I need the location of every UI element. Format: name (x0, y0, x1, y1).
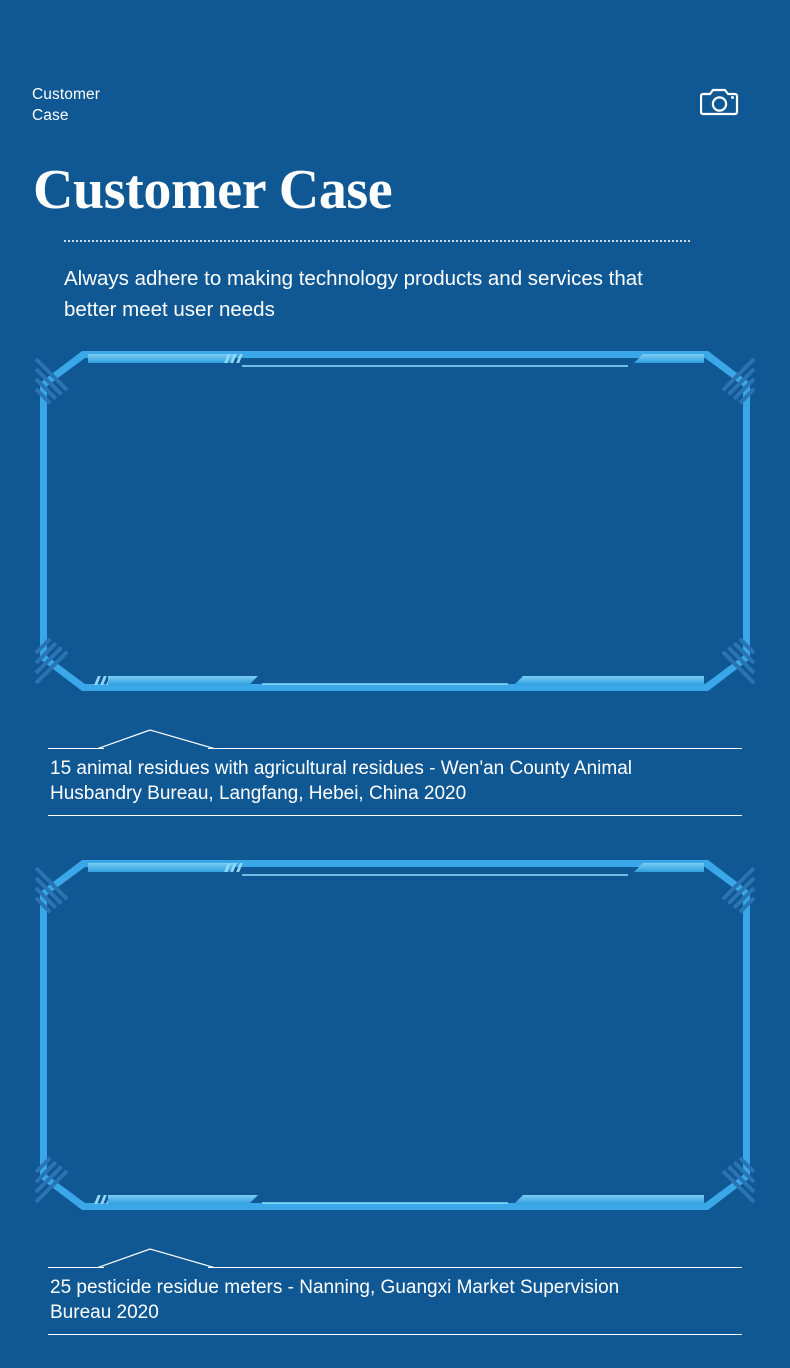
case-photo-1: 文安县农业农村局农产品质量安全培训会 (48, 353, 742, 685)
eyebrow-label: Customer Case (32, 84, 172, 126)
caption-top-rule-1 (48, 729, 742, 749)
page-title: Customer Case (33, 160, 740, 220)
case-photo-2 (48, 862, 742, 1204)
caption-line-1: 15 animal residues with agricultural res… (50, 756, 742, 781)
caption-peak-icon (98, 729, 214, 749)
page-subtitle: Always adhere to making technology produ… (64, 263, 690, 325)
header-divider (64, 240, 690, 242)
photo-frame-2 (30, 850, 760, 1218)
caption-bottom-rule-2 (48, 1334, 742, 1335)
caption-top-rule-2 (48, 1248, 742, 1268)
caption-block-2: 25 pesticide residue meters - Nanning, G… (48, 1248, 742, 1335)
customer-case-page: Customer Case Customer Case Always adher… (0, 0, 790, 1368)
caption-peak-icon (98, 1248, 214, 1268)
lab-demo-photo (48, 862, 742, 1204)
case-caption-2: 25 pesticide residue meters - Nanning, G… (48, 1268, 742, 1334)
subtitle-line-2: better meet user needs (64, 294, 690, 325)
caption-block-1: 15 animal residues with agricultural res… (48, 729, 742, 816)
caption-bottom-rule-1 (48, 815, 742, 816)
training-room-photo: 文安县农业农村局农产品质量安全培训会 (48, 353, 742, 685)
caption-line-2: Bureau 2020 (50, 1300, 742, 1325)
eyebrow-line-2: Case (32, 105, 172, 126)
photo-frame-1: 文安县农业农村局农产品质量安全培训会 (30, 341, 760, 699)
eyebrow-line-1: Customer (32, 84, 172, 105)
caption-line-2: Husbandry Bureau, Langfang, Hebei, China… (50, 781, 742, 806)
page-header: Customer Case Customer Case Always adher… (0, 0, 790, 325)
case-item-1: 文安县农业农村局农产品质量安全培训会 (0, 341, 790, 816)
subtitle-line-1: Always adhere to making technology produ… (64, 263, 690, 294)
banner-text: 文安县农业农村局农产品质量安全培训会 (292, 403, 528, 433)
camera-icon (700, 85, 740, 117)
case-caption-1: 15 animal residues with agricultural res… (48, 749, 742, 815)
case-item-2: 25 pesticide residue meters - Nanning, G… (0, 850, 790, 1335)
caption-line-1: 25 pesticide residue meters - Nanning, G… (50, 1275, 742, 1300)
